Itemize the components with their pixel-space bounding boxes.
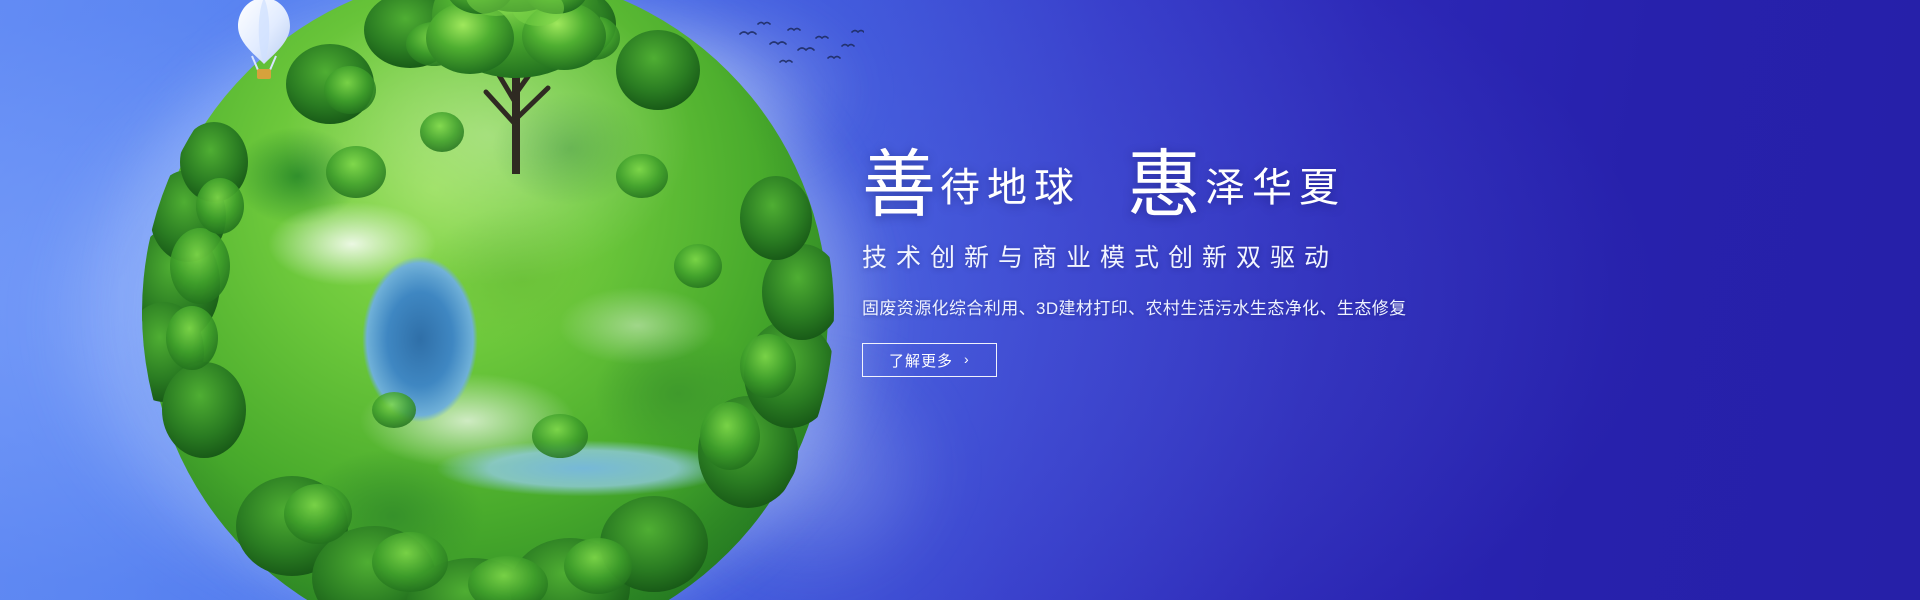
chevron-right-icon: › <box>964 352 970 366</box>
bird-flock-icon <box>736 20 864 70</box>
tiny-planet-image <box>148 0 828 600</box>
learn-more-button[interactable]: 了解更多 › <box>862 343 997 377</box>
large-tree-icon <box>416 0 616 182</box>
banner-content: 善 待地球 惠 泽华夏 技术创新与商业模式创新双驱动 固废资源化综合利用、3D建… <box>862 128 1482 377</box>
hot-air-balloon-icon <box>236 0 292 86</box>
headline-lead-rest: 待地球 <box>940 168 1081 208</box>
headline-lead-char: 善 <box>862 153 936 220</box>
banner-subtitle: 技术创新与商业模式创新双驱动 <box>862 238 1482 274</box>
headline-second-rest: 泽华夏 <box>1205 168 1346 208</box>
headline-second-char: 惠 <box>1127 153 1201 220</box>
banner-description: 固废资源化综合利用、3D建材打印、农村生活污水生态净化、生态修复 <box>862 294 1482 319</box>
learn-more-label: 了解更多 <box>889 350 953 371</box>
headline: 善 待地球 惠 泽华夏 <box>862 128 1482 214</box>
hero-banner: 善 待地球 惠 泽华夏 技术创新与商业模式创新双驱动 固废资源化综合利用、3D建… <box>0 0 1920 600</box>
